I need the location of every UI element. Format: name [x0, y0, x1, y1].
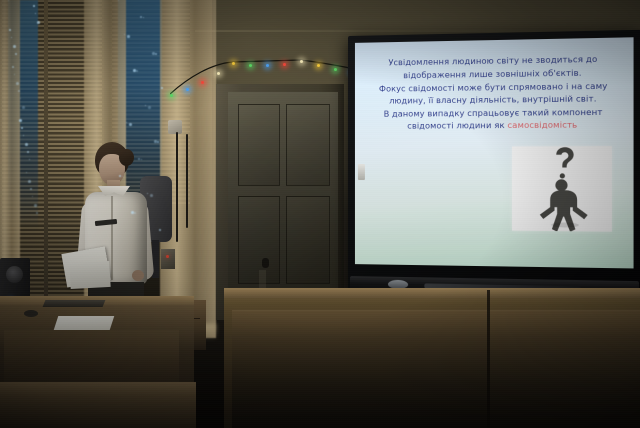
led-bulb [186, 88, 189, 91]
door-panel-upper-left [238, 104, 280, 186]
sheet-of-paper [54, 316, 115, 330]
wall-cable-b [186, 134, 188, 228]
tinsel-sparkle [9, 29, 11, 31]
tinsel-sparkle [120, 88, 121, 89]
slide-line-1: Усвідомлення людиною світу не зводиться … [388, 54, 597, 68]
led-bulb [334, 68, 337, 71]
classroom-scene: Усвідомлення людиною світу не зводиться … [0, 0, 640, 428]
tinsel-sparkle [25, 143, 28, 146]
tinsel-sparkle [119, 175, 121, 177]
person-with-question-mark-icon [512, 146, 612, 231]
tinsel-sparkle [29, 159, 30, 160]
tinsel-sparkle [20, 98, 21, 99]
led-bulb [170, 94, 173, 97]
tinsel-sparkle [122, 176, 123, 177]
slide-line-6: свідомості людини як [407, 120, 507, 131]
desk-row-divider [487, 290, 490, 428]
tinsel-sparkle [16, 82, 19, 85]
blind-divider [44, 0, 48, 302]
door-handle[interactable] [262, 258, 269, 268]
tinsel-sparkle [8, 0, 9, 1]
tinsel-sparkle [127, 35, 130, 38]
led-bulb [217, 72, 220, 75]
wall-outlet[interactable] [168, 120, 182, 134]
tinsel-sparkle [124, 34, 125, 35]
board-bezel: Усвідомлення людиною світу не зводиться … [355, 37, 634, 268]
foreground-desk [0, 382, 196, 428]
tinsel-sparkle [32, 196, 33, 197]
tinsel-sparkle [14, 74, 15, 75]
tinsel-sparkle [118, 0, 119, 1]
slide-highlight-word: самосвідомість [507, 120, 577, 131]
tinsel-sparkle [141, 159, 142, 160]
tinsel-sparkle [126, 122, 127, 123]
desk-row-top-lip [224, 288, 640, 298]
tinsel-sparkle [15, 53, 17, 55]
projected-slide: Усвідомлення людиною світу не зводиться … [355, 37, 634, 268]
tinsel-sparkle [30, 188, 32, 190]
tinsel-sparkle [18, 90, 20, 92]
board-eraser[interactable] [358, 164, 365, 180]
tinsel-sparkle [131, 211, 134, 214]
tinsel-sparkle [12, 66, 14, 68]
tinsel-sparkle [150, 194, 153, 197]
led-bulb [232, 62, 235, 65]
interactive-whiteboard[interactable]: Усвідомлення людиною світу не зводиться … [348, 30, 640, 304]
tinsel-sparkle [147, 193, 148, 194]
led-bulb [283, 63, 286, 66]
tinsel-sparkle [37, 21, 40, 24]
wall-cable-a [176, 132, 178, 242]
hair-bun [119, 149, 134, 166]
tinsel-sparkle [35, 13, 36, 14]
tinsel-sparkle [33, 5, 35, 7]
led-bulb [266, 64, 269, 67]
desk-row-front-panel [232, 336, 640, 428]
tinsel-sparkle [155, 53, 157, 55]
slide-line-5: В даному випадку спрацьовує такий компон… [384, 106, 603, 118]
tinsel-sparkle [140, 16, 142, 18]
shirt-placket [111, 196, 113, 280]
tinsel-sparkle [19, 119, 22, 122]
tinsel-sparkle [143, 17, 144, 18]
tinsel-sparkle [134, 212, 136, 214]
held-papers-second-sheet [69, 261, 110, 289]
tinsel-sparkle [148, 106, 151, 109]
mouse[interactable] [24, 310, 38, 317]
slide-body-text: Усвідомлення людиною світу не зводиться … [366, 53, 622, 133]
door-panel-lower-right [286, 196, 330, 284]
slide-line-2: відображення лише зовнішніх об'єктів. [403, 67, 581, 80]
led-bulb [317, 64, 320, 67]
tinsel-sparkle [26, 172, 27, 173]
tinsel-sparkle [28, 180, 31, 183]
tinsel-sparkle [23, 135, 24, 136]
tinsel-sparkle [27, 151, 29, 153]
tinsel-sparkle [136, 70, 138, 72]
tinsel-sparkle [138, 158, 140, 160]
door-panel-upper-right [286, 104, 330, 186]
led-bulb [300, 60, 303, 63]
tinsel-sparkle [21, 127, 23, 129]
tinsel-sparkle [34, 204, 37, 207]
tinsel-sparkle [154, 140, 157, 143]
slide-image-panel [512, 146, 612, 231]
led-bulb [201, 81, 204, 84]
tinsel-sparkle [36, 212, 38, 214]
slide-line-4: людину, її власну діяльність, внутрішній… [389, 93, 596, 105]
tinsel-sparkle [13, 45, 16, 48]
tinsel-sparkle [133, 69, 136, 72]
tinsel-sparkle [145, 105, 146, 106]
slide-line-3: Фокус свідомості може бути спрямовано і … [379, 80, 608, 93]
speaker-cone [6, 266, 23, 283]
tinsel-sparkle [22, 106, 25, 109]
tinsel-sparkle [152, 52, 155, 55]
led-bulb [249, 64, 252, 67]
tinsel-sparkle [157, 141, 159, 143]
tinsel-sparkle [161, 87, 163, 89]
tinsel-sparkle [159, 229, 161, 231]
tinsel-sparkle [129, 123, 132, 126]
tinsel-sparkle [11, 37, 12, 38]
keyboard[interactable] [43, 300, 106, 307]
right-hand [132, 270, 144, 281]
paneled-door[interactable] [228, 92, 338, 320]
desk-row-apron [232, 310, 640, 338]
